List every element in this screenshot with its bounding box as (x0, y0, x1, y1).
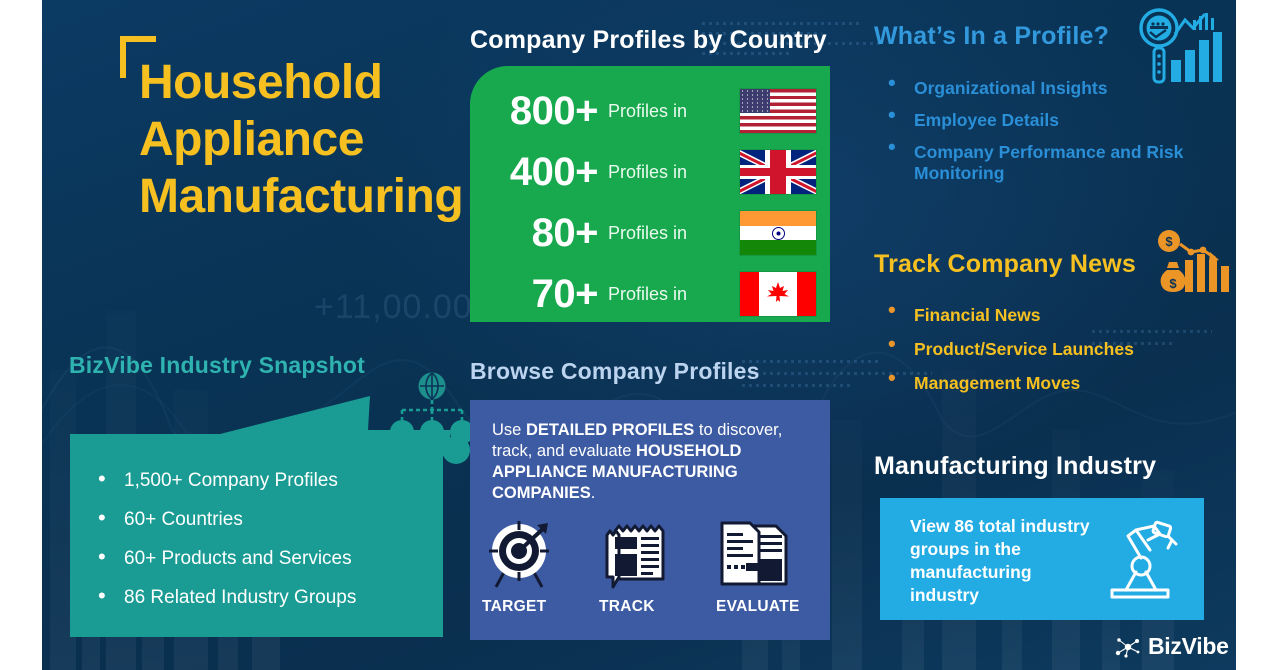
country-row: 400+ Profiles in (470, 143, 830, 201)
profiles-by-country-heading: Company Profiles by Country (470, 26, 827, 55)
list-item: 1,500+ Company Profiles (92, 470, 442, 492)
country-row: 70+ Profiles in (470, 265, 830, 323)
country-count: 400+ (470, 150, 608, 195)
manufacturing-callout-text: View 86 total industry groups in the man… (910, 515, 1090, 607)
whats-in-profile-heading: What’s In a Profile? (874, 22, 1109, 51)
flag-united-kingdom (740, 150, 816, 194)
robot-arm-icon (1102, 520, 1186, 600)
list-item: 60+ Countries (92, 509, 442, 531)
snapshot-heading: BizVibe Industry Snapshot (69, 352, 365, 379)
title-line-1: Household (139, 54, 463, 111)
page-title: Household Appliance Manufacturing (77, 30, 401, 201)
background-ticker-text: +11,00.00 (314, 288, 473, 327)
list-item: Company Performance and Risk Monitoring (874, 142, 1204, 184)
infographic-board: +11,00.00 Household Appliance Manufactur… (42, 0, 1236, 670)
list-item: Product/Service Launches (874, 339, 1204, 360)
action-track[interactable]: TRACK (599, 520, 705, 616)
country-count: 70+ (470, 272, 608, 317)
country-row: 80+ Profiles in (470, 204, 830, 262)
browse-text-p1: Use (492, 421, 526, 439)
country-label: Profiles in (608, 284, 740, 305)
profiles-by-country-panel: 800+ Profiles in 400+ Profiles in 80+ Pr… (470, 66, 830, 322)
title-line-2: Appliance (139, 111, 463, 168)
list-item: Employee Details (874, 110, 1204, 131)
money-bag-chart-icon: $ $ (1155, 228, 1231, 302)
browse-actions: TARGET (482, 520, 822, 616)
country-count: 800+ (470, 89, 608, 134)
browse-text-p3: . (591, 484, 596, 502)
browse-heading: Browse Company Profiles (470, 358, 760, 385)
infographic-canvas: +11,00.00 Household Appliance Manufactur… (0, 0, 1279, 670)
manufacturing-heading: Manufacturing Industry (874, 452, 1156, 481)
country-label: Profiles in (608, 223, 740, 244)
action-evaluate[interactable]: EVALUATE (716, 520, 822, 616)
list-item: 60+ Products and Services (92, 548, 442, 570)
flag-united-states (740, 89, 816, 133)
country-label: Profiles in (608, 162, 740, 183)
bizvibe-logo-text: BizVibe (1148, 633, 1229, 660)
country-count: 80+ (470, 211, 608, 256)
country-row: 800+ Profiles in (470, 82, 830, 140)
list-item: Management Moves (874, 373, 1204, 394)
action-caption: TARGET (482, 598, 588, 616)
bizvibe-logo[interactable]: BizVibe (1115, 633, 1229, 660)
svg-text:$: $ (1165, 234, 1173, 249)
track-news-heading: Track Company News (874, 250, 1136, 279)
action-caption: EVALUATE (716, 598, 822, 616)
track-news-list: Financial News Product/Service Launches … (874, 305, 1204, 407)
flag-india (740, 211, 816, 255)
action-caption: TRACK (599, 598, 705, 616)
list-item: Organizational Insights (874, 78, 1204, 99)
flag-canada (740, 272, 816, 316)
magnifier-bar-chart-icon (1135, 8, 1223, 86)
target-icon (482, 520, 588, 592)
list-item: 86 Related Industry Groups (92, 587, 442, 609)
bizvibe-molecule-icon (1115, 636, 1141, 658)
whats-in-profile-list: Organizational Insights Employee Details… (874, 78, 1204, 195)
globe-network-icon (390, 368, 474, 446)
snapshot-list: 1,500+ Company Profiles 60+ Countries 60… (92, 470, 442, 626)
documents-icon (716, 520, 822, 592)
country-label: Profiles in (608, 101, 740, 122)
browse-paragraph: Use DETAILED PROFILES to discover, track… (492, 420, 812, 504)
svg-text:$: $ (1169, 276, 1177, 291)
action-target[interactable]: TARGET (482, 520, 588, 616)
title-line-3: Manufacturing (139, 168, 463, 225)
list-item: Financial News (874, 305, 1204, 326)
newspaper-icon (599, 520, 705, 592)
browse-text-b1: DETAILED PROFILES (526, 421, 694, 439)
